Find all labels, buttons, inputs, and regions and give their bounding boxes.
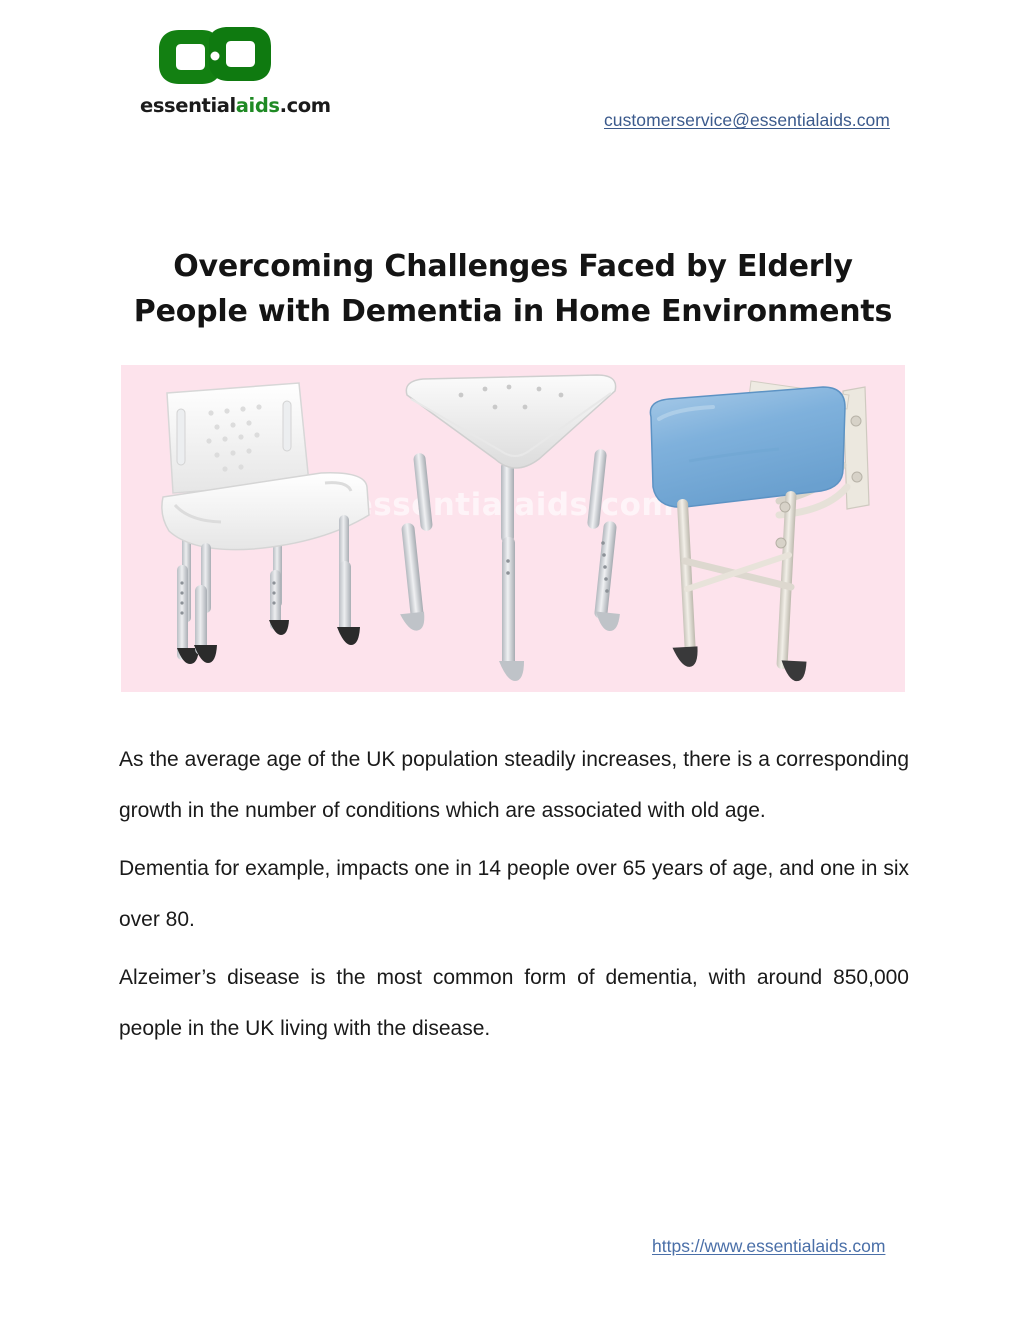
contact-email-link[interactable]: customerservice@essentialaids.com	[604, 110, 890, 131]
product-image-triangular-corner-shower-stool	[389, 365, 639, 692]
article-body: As the average age of the UK population …	[119, 734, 909, 1054]
footer-website-link[interactable]: https://www.essentialaids.com	[652, 1236, 885, 1257]
paragraph-2: Dementia for example, impacts one in 14 …	[119, 843, 909, 945]
document-page: essentialaids.com customerservice@essent…	[0, 0, 1024, 1325]
essentialaids-logo-mark-icon	[150, 26, 280, 88]
product-figure: essentialaids.com	[121, 365, 905, 692]
wordmark-essential: essential	[140, 94, 236, 117]
page-header: essentialaids.com customerservice@essent…	[0, 0, 1024, 165]
paragraph-3: Alzeimer’s disease is the most common fo…	[119, 952, 909, 1054]
paragraph-1: As the average age of the UK population …	[119, 734, 909, 836]
wordmark-aids: aids	[236, 94, 280, 117]
product-image-wall-mounted-folding-shower-seat	[629, 365, 905, 692]
product-image-shower-chair-with-backrest	[133, 365, 393, 692]
brand-logo[interactable]: essentialaids.com	[140, 26, 330, 117]
brand-wordmark: essentialaids.com	[140, 94, 330, 117]
page-title: Overcoming Challenges Faced by Elderly P…	[119, 244, 907, 334]
wordmark-dotcom: .com	[280, 94, 331, 117]
